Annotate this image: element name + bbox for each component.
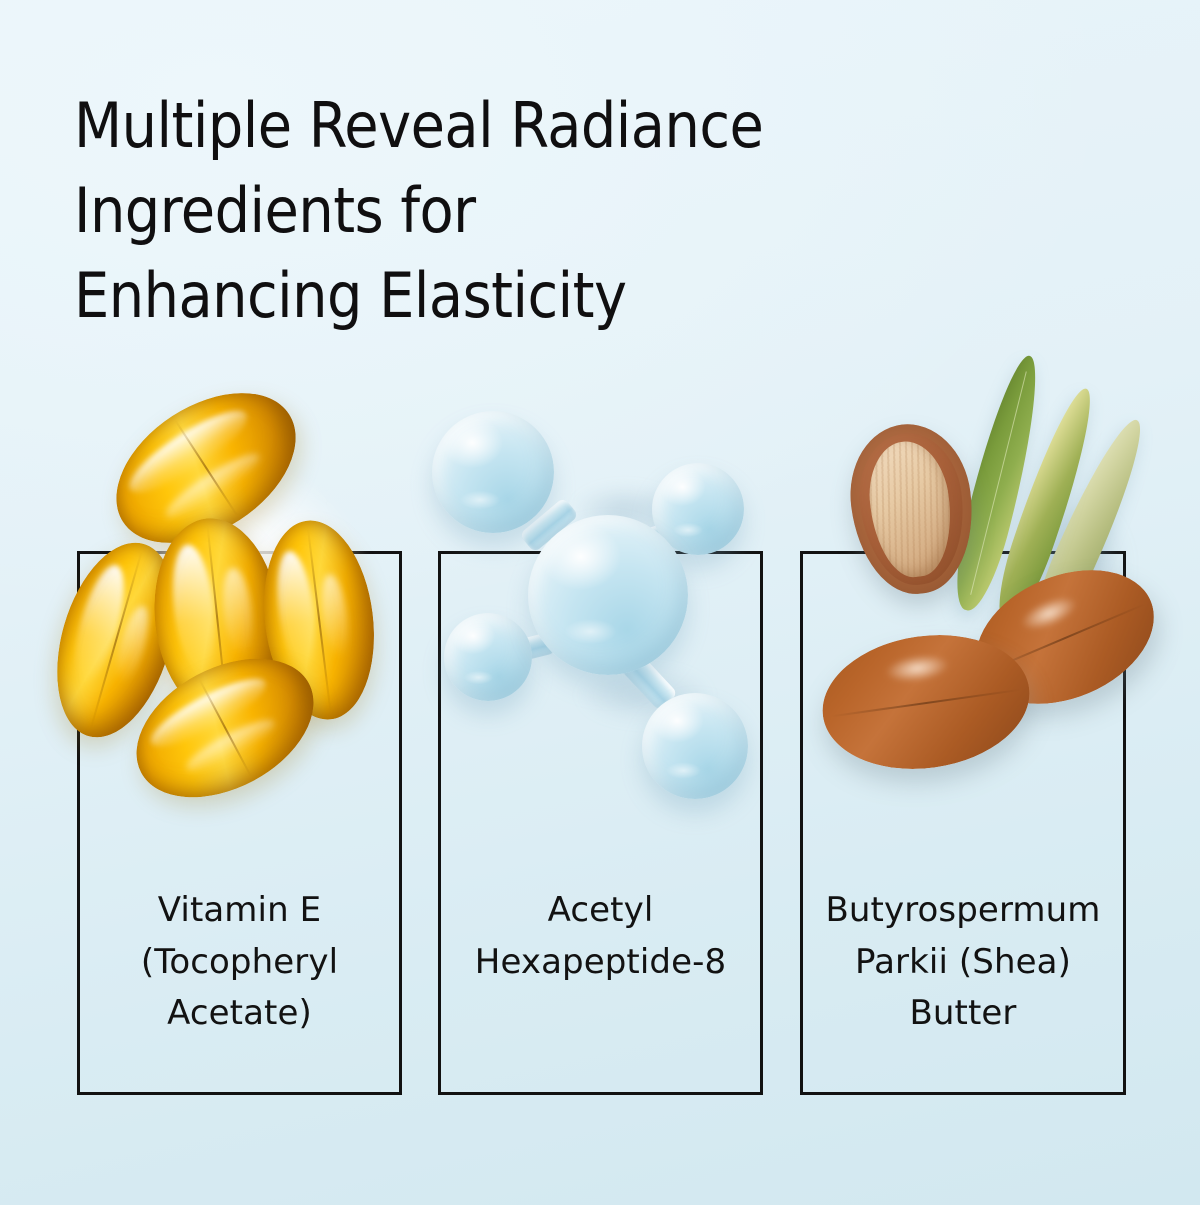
softgel-capsule	[89, 362, 323, 574]
ingredient-card-acetyl-hexapeptide-8[interactable]: Acetyl Hexapeptide-8	[438, 551, 763, 1095]
molecule-bond	[519, 497, 579, 553]
ingredient-card-vitamin-e[interactable]: Vitamin E (Tocopheryl Acetate)	[77, 551, 402, 1095]
ingredient-infographic: Multiple Reveal Radiance Ingredients for…	[0, 0, 1200, 1205]
molecule-atom	[652, 463, 744, 555]
ingredient-card-shea-butter[interactable]: Butyrospermum Parkii (Shea) Butter	[800, 551, 1126, 1095]
ingredient-card-caption: Butyrospermum Parkii (Shea) Butter	[803, 885, 1123, 1040]
molecule-bond	[638, 516, 694, 553]
molecule-atom	[432, 411, 554, 533]
page-title: Multiple Reveal Radiance Ingredients for…	[74, 84, 1074, 339]
ingredient-card-caption: Vitamin E (Tocopheryl Acetate)	[80, 885, 399, 1040]
ingredient-card-caption: Acetyl Hexapeptide-8	[441, 885, 760, 988]
